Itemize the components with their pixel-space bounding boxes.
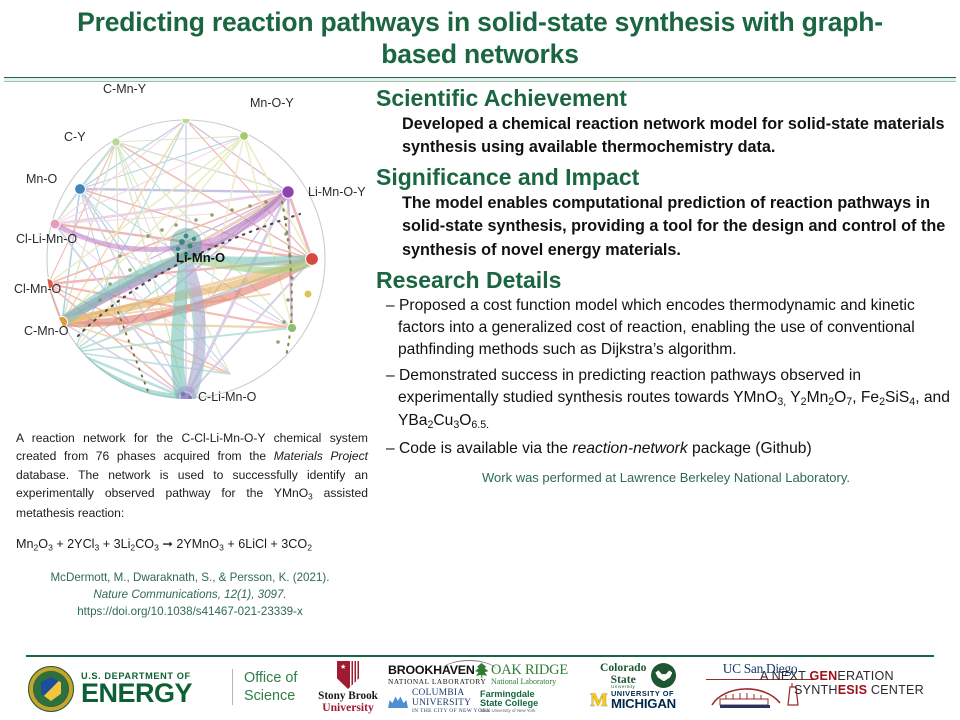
oak-leaf-icon [474,663,489,680]
title-divider [4,77,956,82]
michigan-m-icon: M [590,692,608,709]
columbia-crown-icon [388,695,408,708]
stony-brook-line-2: University [312,702,384,714]
farmingdale-line-2: State College [480,699,542,708]
michigan-line-2: MICHIGAN [611,697,676,710]
ngsc-l1-a: A NEXT [760,669,809,683]
caption-italic: Materials Project [274,449,368,463]
node-label-li-mn-o-center: Li-Mn-O [176,250,225,265]
doe-logo: U.S. DEPARTMENT OF ENERGY [28,665,260,713]
eq-sub: 2 [307,542,312,552]
oak-ridge-line-1: OAK RIDGE [491,663,568,678]
reaction-network-figure: C-Mn-Y Mn-O-Y C-Y Mn-O Li-Mn-O-Y Cl-Li-M… [0,84,372,414]
research-detail-text-3b: package (Github) [688,440,812,457]
research-detail-text-3a: Code is available via the [399,440,572,457]
doe-wordmark: U.S. DEPARTMENT OF ENERGY [81,672,192,707]
ngsc-line-2: SYNTHESIS CENTER [760,683,950,697]
node-right-mid [304,290,312,298]
michigan-logo: M UNIVERSITY OF MICHIGAN [590,690,700,711]
node-c-y [75,184,86,195]
oak-ridge-logo: OAK RIDGE National Laboratory [474,663,594,686]
citation-link[interactable]: https://doi.org/10.1038/s41467-021-23339… [10,604,370,621]
node-c-mn-o [68,347,78,357]
formula-y2mn2o7: Y2Mn2O7, [790,389,856,406]
node-label-c-li-mn-o: C-Li-Mn-O [198,390,256,404]
eq-sub: 2 [130,542,135,552]
formula-yba2cu3o65: YBa2Cu3O6.5. [398,412,489,429]
farmingdale-line-3: State University of New York [480,709,542,713]
bullet-dash-icon: – [386,440,395,457]
oak-ridge-wordmark: OAK RIDGE National Laboratory [491,663,568,686]
research-detail-item-3: – Code is available via the reaction-net… [398,438,956,460]
research-detail-item-1: – Proposed a cost function model which e… [398,295,956,360]
doe-energy-text: ENERGY [81,681,192,707]
work-performed-note: Work was performed at Lawrence Berkeley … [376,470,956,485]
node-label-mn-o: Mn-O [26,172,57,186]
research-detail-text-1: Proposed a cost function model which enc… [398,297,915,358]
ngsc-l2-b: ESIS [838,683,868,697]
eq-sub: 3 [94,542,99,552]
colorado-state-logo: Colorado State University [600,662,692,690]
research-detail-item-2: – Demonstrated success in predicting rea… [398,365,956,432]
ngsc-l2-c: CENTER [867,683,924,697]
network-graph-svg [0,84,372,414]
node-label-mn-o-y: Mn-O-Y [250,96,294,110]
citation: McDermott, M., Dwaraknath, S., & Persson… [10,570,370,620]
eq-sub: 2 [34,542,39,552]
bullet-dash-icon: – [386,297,395,314]
ngsc-wordmark: A NEXT GENERATION SYNTHESIS CENTER [760,669,950,697]
package-name: reaction-network [572,440,687,457]
page-title: Predicting reaction pathways in solid-st… [65,6,895,71]
csu-ram-icon [651,663,676,688]
eq-sub: 3 [154,542,159,552]
title-bar: Predicting reaction pathways in solid-st… [0,0,960,76]
node-label-c-mn-o: C-Mn-O [24,324,68,338]
ngsc-l1-b: GEN [809,669,837,683]
eq-sub: 3 [219,542,224,552]
stony-brook-logo: Stony Brook University [312,661,384,714]
left-column: C-Mn-Y Mn-O-Y C-Y Mn-O Li-Mn-O-Y Cl-Li-M… [0,84,372,640]
citation-line-2: Nature Communications, 12(1), 3097. [10,587,370,604]
office-line-1: Office of [244,669,297,687]
node-mn-o-y [282,186,294,198]
section-body-significance: The model enables computational predicti… [402,192,956,262]
node-label-c-mn-y: C-Mn-Y [103,82,146,96]
ngsc-l1-c: ERATION [837,669,893,683]
node-top [182,116,190,124]
node-label-c-y: C-Y [64,130,86,144]
citation-line-1: McDermott, M., Dwaraknath, S., & Persson… [10,570,370,587]
arrow-icon: ➞ [162,537,173,551]
eq-sub: 3 [48,542,53,552]
node-label-cl-mn-o: Cl-Mn-O [14,282,61,296]
stony-brook-shield-icon [337,661,359,689]
bullet-dash-icon: – [386,367,395,384]
section-heading-achievement: Scientific Achievement [376,86,956,112]
section-heading-research: Research Details [376,268,956,294]
ngsc-line-1: A NEXT GENERATION [760,669,950,683]
michigan-wordmark: UNIVERSITY OF MICHIGAN [611,690,676,711]
colorado-state-line-1: Colorado [600,662,646,674]
ngsc-l2-a: SYNTH [794,683,838,697]
node-li-mn-o-y [306,253,319,266]
node-mn-o [50,219,60,229]
oak-ridge-line-2: National Laboratory [491,678,568,686]
section-body-achievement: Developed a chemical reaction network mo… [402,113,956,160]
colorado-state-wordmark: Colorado State University [600,662,646,690]
node-upper-right [240,132,249,141]
footer-logos: U.S. DEPARTMENT OF ENERGY Office of Scie… [0,657,960,720]
figure-caption: A reaction network for the C-Cl-Li-Mn-O-… [16,429,368,522]
farmingdale-logo: Farmingdale State College State Universi… [480,690,542,714]
right-column: Scientific Achievement Developed a chemi… [376,86,956,642]
node-c-mn-y [112,138,120,146]
doe-logo-divider [232,669,233,705]
office-of-science-text: Office of Science [244,669,297,705]
node-label-li-mn-o-y: Li-Mn-O-Y [308,185,366,199]
doe-seal-icon [28,666,74,712]
reaction-equation: Mn2O3 + 2YCl3 + 3Li2CO3 ➞ 2YMnO3 + 6LiCl… [16,536,368,552]
office-line-2: Science [244,687,297,705]
section-heading-significance: Significance and Impact [376,165,956,191]
formula-fe2sis4: Fe2SiS4, [861,389,920,406]
node-right-lower [287,323,296,332]
formula-ymno3: YMnO3, [733,389,786,406]
node-label-cl-li-mn-o: Cl-Li-Mn-O [16,232,77,246]
